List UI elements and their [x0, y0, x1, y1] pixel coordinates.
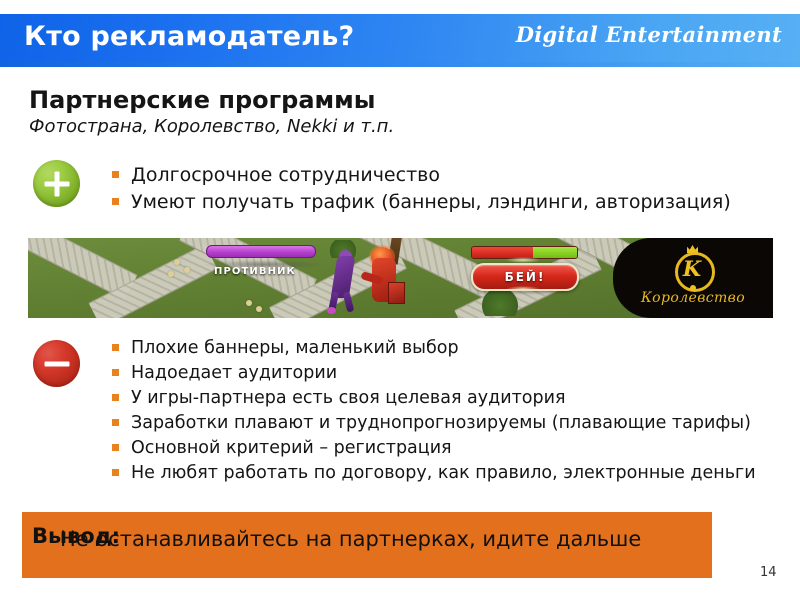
- bullet-square-icon: [112, 171, 119, 178]
- header-underline: [0, 62, 800, 67]
- bullet-square-icon: [112, 394, 119, 401]
- hero-character-sprite: [326, 250, 362, 312]
- bullet-square-icon: [112, 444, 119, 451]
- pebble-decoration: [256, 306, 262, 312]
- cons-list: Плохие баннеры, маленький выбор Надоедае…: [112, 336, 772, 486]
- list-item-label: Умеют получать трафик (баннеры, лэндинги…: [131, 191, 731, 213]
- game-screenshot-banner[interactable]: ПРОТИВНИК БЕЙ! K Королевство: [28, 238, 773, 318]
- list-item: Заработки плавают и труднопрогнозируемы …: [112, 411, 772, 436]
- list-item: Не любят работать по договору, как прави…: [112, 461, 772, 486]
- list-item: Долгосрочное сотрудничество: [112, 162, 752, 189]
- bullet-square-icon: [112, 419, 119, 426]
- list-item-label: Плохие баннеры, маленький выбор: [131, 338, 459, 358]
- hero-foot: [327, 307, 336, 314]
- bullet-square-icon: [112, 369, 119, 376]
- monster-character-sprite: [364, 248, 408, 314]
- conclusion-text: Не останавливайтесь на партнерках, идите…: [60, 524, 700, 555]
- list-item-label: У игры-партнера есть своя целевая аудито…: [131, 388, 566, 408]
- bullet-square-icon: [112, 469, 119, 476]
- brand-logo: Digital Entertainment: [516, 22, 782, 47]
- list-item: Плохие баннеры, маленький выбор: [112, 336, 772, 361]
- pebble-decoration: [246, 300, 252, 306]
- button-ornament-bottom: [506, 286, 540, 292]
- kingdom-brand-panel[interactable]: K Королевство: [613, 238, 773, 318]
- crest-letter: K: [672, 252, 712, 286]
- pebble-decoration: [174, 259, 180, 265]
- plus-icon-vertical-stroke: [54, 171, 59, 196]
- list-item-label: Долгосрочное сотрудничество: [131, 164, 440, 186]
- list-item-label: Не любят работать по договору, как прави…: [131, 463, 756, 483]
- plus-circle-icon: [33, 160, 80, 207]
- bush-decoration: [480, 290, 520, 316]
- enemy-health-bar: [206, 245, 316, 258]
- pros-list: Долгосрочное сотрудничество Умеют получа…: [112, 162, 752, 216]
- page-number: 14: [760, 565, 777, 580]
- conclusion-callout-box: Вывод: Не останавливайтесь на партнерках…: [22, 512, 712, 578]
- enemy-label: ПРОТИВНИК: [214, 266, 296, 277]
- list-item-label: Заработки плавают и труднопрогнозируемы …: [131, 413, 751, 433]
- section-subheading: Фотострана, Королевство, Nekki и т.п.: [29, 116, 394, 137]
- hero-leg-right: [343, 291, 355, 312]
- list-item-label: Основной критерий – регистрация: [131, 438, 452, 458]
- pebble-decoration: [168, 271, 174, 277]
- list-item: У игры-партнера есть своя целевая аудито…: [112, 386, 772, 411]
- monster-pack: [388, 282, 405, 304]
- list-item-label: Надоедает аудитории: [131, 363, 337, 383]
- kingdom-crest-icon: K: [672, 246, 714, 288]
- bullet-square-icon: [112, 344, 119, 351]
- minus-circle-icon: [33, 340, 80, 387]
- page-title: Кто рекламодатель?: [24, 21, 354, 52]
- list-item: Умеют получать трафик (баннеры, лэндинги…: [112, 189, 752, 216]
- attack-button-label: БЕЙ!: [505, 270, 546, 284]
- minus-icon-stroke: [44, 361, 69, 366]
- kingdom-brand-name: Королевство: [613, 290, 773, 306]
- section-heading: Партнерские программы: [29, 86, 375, 114]
- pebble-decoration: [184, 267, 190, 273]
- list-item: Надоедает аудитории: [112, 361, 772, 386]
- list-item: Основной критерий – регистрация: [112, 436, 772, 461]
- conclusion-label: Вывод:: [32, 524, 120, 548]
- bullet-square-icon: [112, 198, 119, 205]
